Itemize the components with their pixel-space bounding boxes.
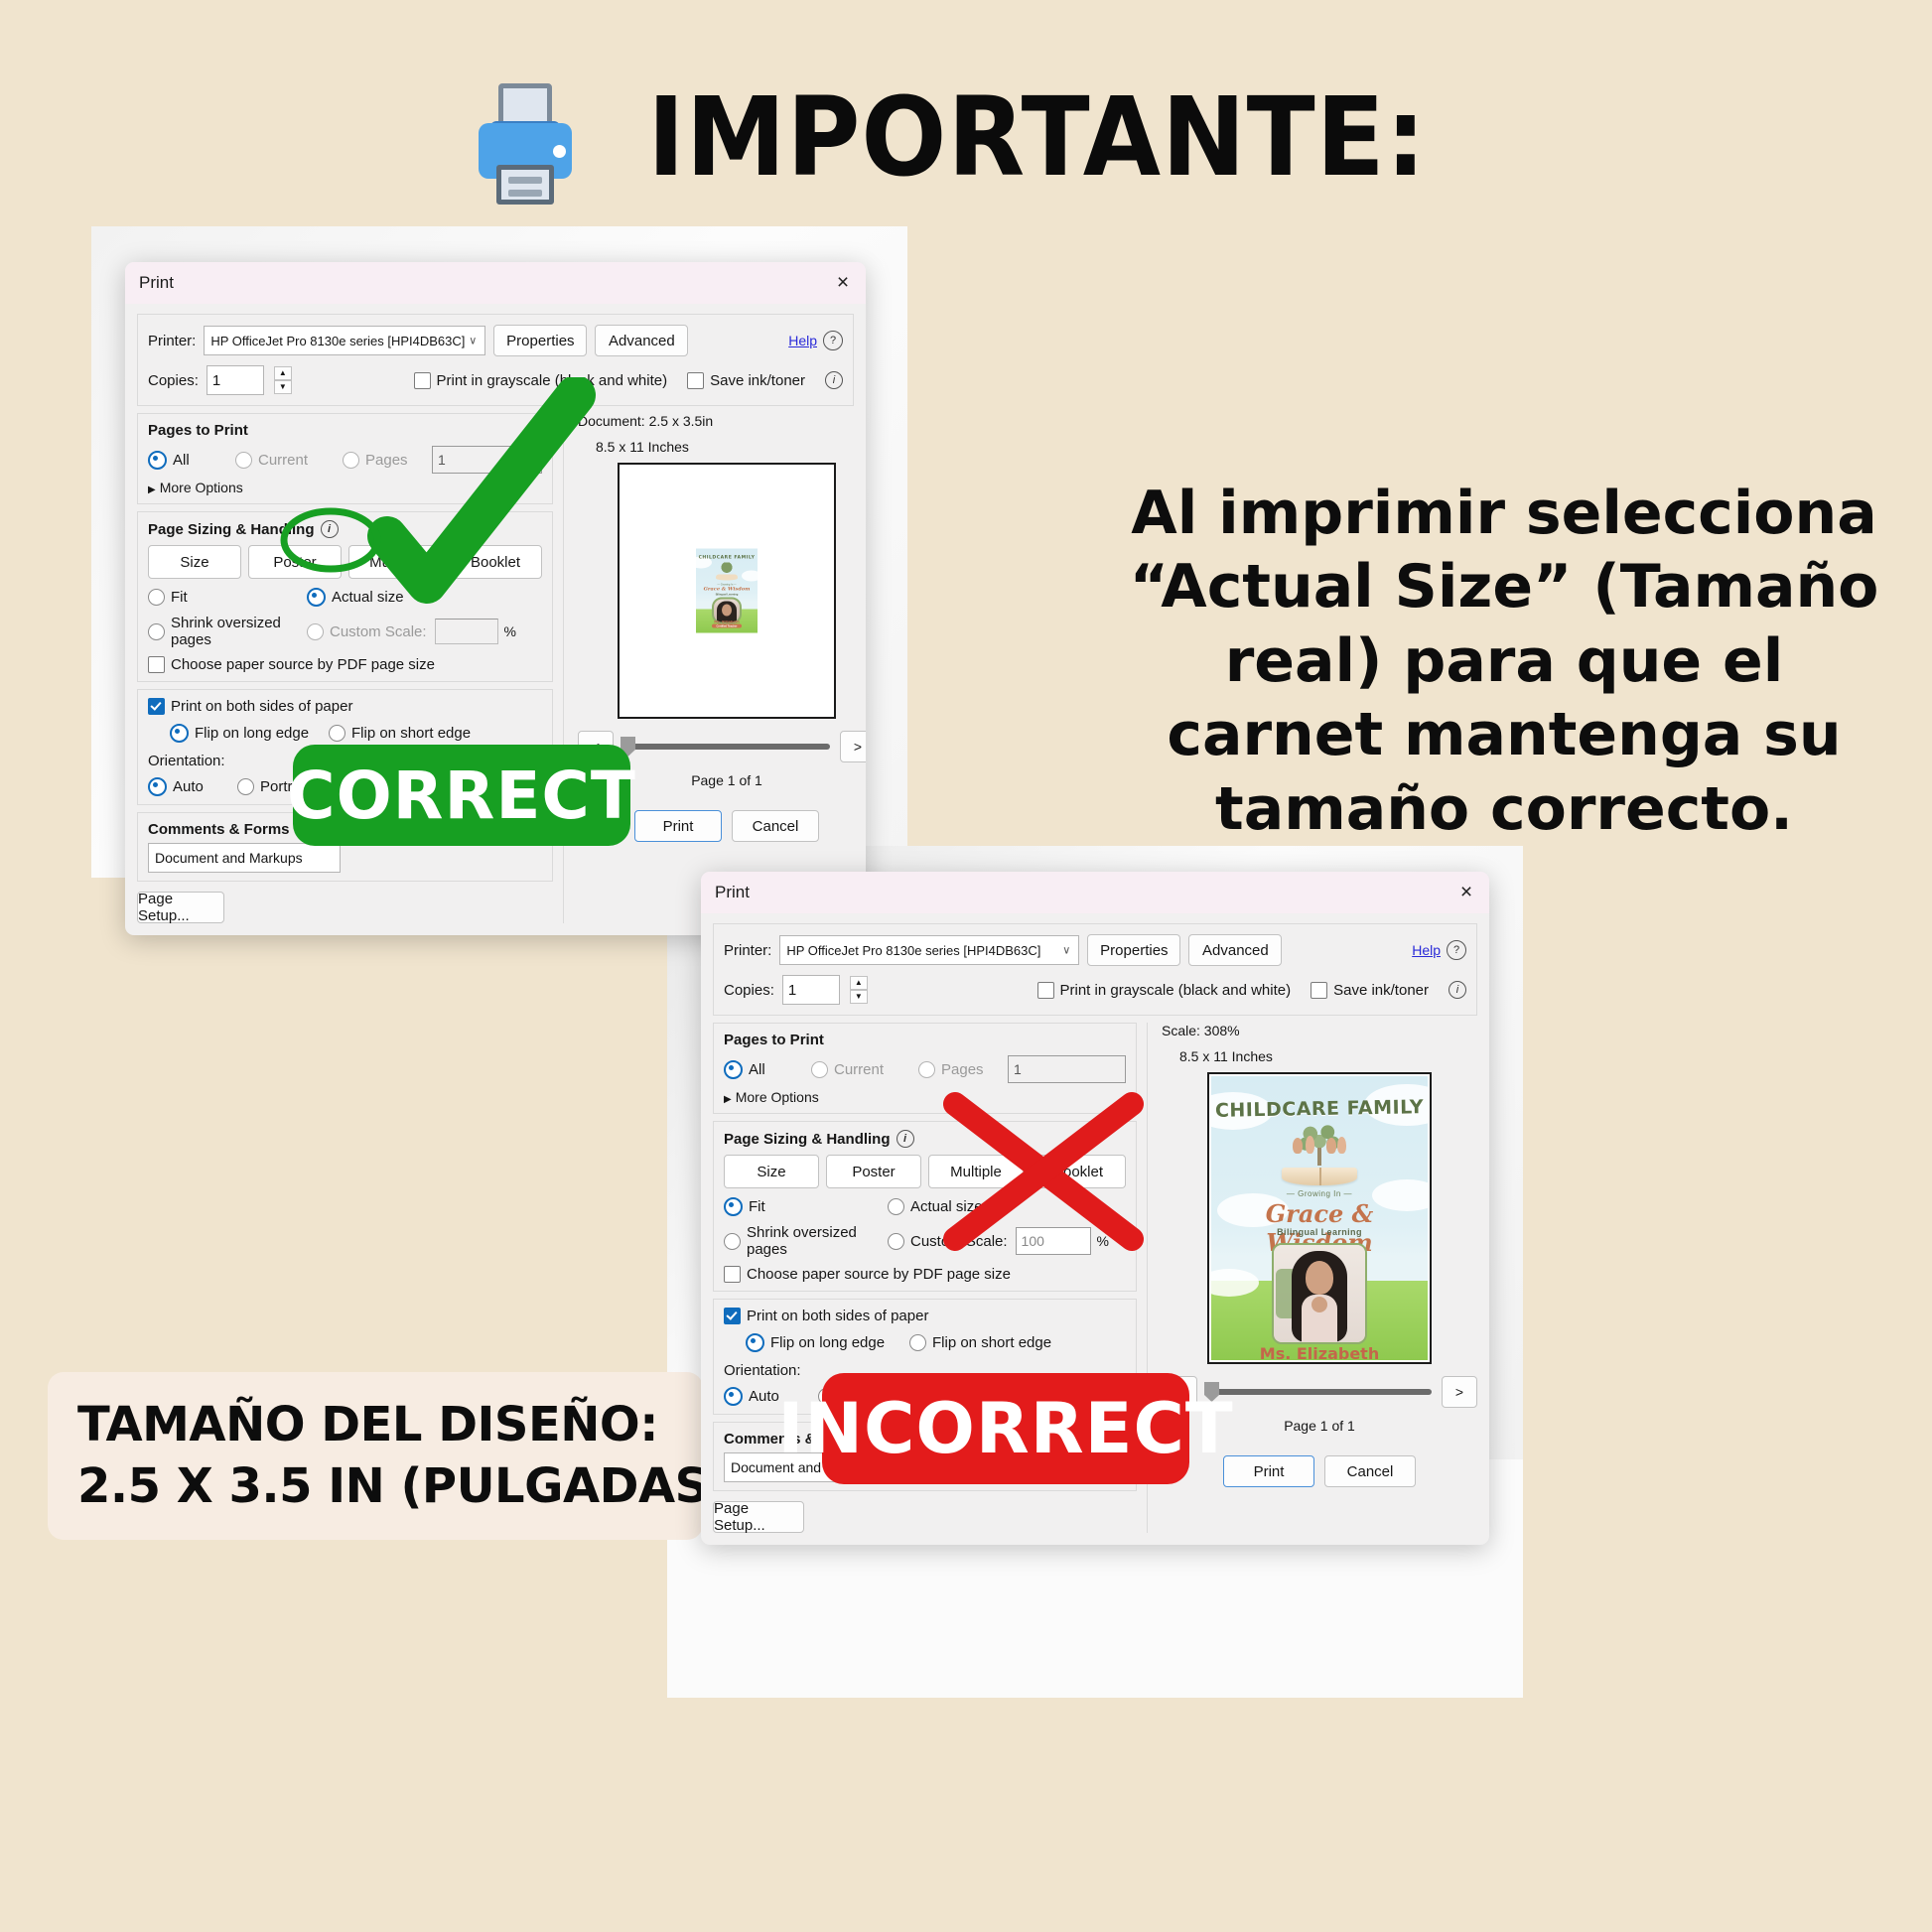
checkbox-icon: [687, 372, 704, 389]
chevron-down-icon: ∨: [469, 335, 477, 347]
comments-select[interactable]: Document and Markups: [148, 843, 341, 873]
paper-source-label: Choose paper source by PDF page size: [747, 1266, 1011, 1283]
poster-button[interactable]: Poster: [248, 545, 342, 579]
checkbox-icon: [724, 1308, 741, 1324]
saveink-label: Save ink/toner: [1333, 982, 1429, 999]
checkbox-icon: [1037, 982, 1054, 999]
advanced-button[interactable]: Advanced: [595, 325, 688, 356]
teacher-photo: [1272, 1243, 1367, 1344]
info-icon[interactable]: i: [1449, 981, 1466, 999]
chevron-right-icon: ▶: [724, 1094, 732, 1105]
more-options-label: More Options: [160, 480, 243, 495]
radio-icon: [724, 1233, 741, 1250]
page-slider[interactable]: [1207, 1389, 1432, 1395]
grayscale-label: Print in grayscale (black and white): [437, 372, 668, 389]
radio-icon: [909, 1334, 926, 1351]
radio-all[interactable]: All: [148, 451, 227, 470]
radio-icon: [746, 1333, 764, 1352]
paper-source-label: Choose paper source by PDF page size: [171, 656, 435, 673]
paper-source-checkbox[interactable]: Choose paper source by PDF page size: [724, 1266, 1126, 1283]
radio-icon: [811, 1061, 828, 1078]
print-button[interactable]: Print: [634, 810, 722, 842]
more-options-toggle[interactable]: ▶More Options: [724, 1089, 1126, 1105]
radio-all[interactable]: All: [724, 1060, 803, 1079]
printer-select[interactable]: HP OfficeJet Pro 8130e series [HPI4DB63C…: [204, 326, 485, 355]
radio-auto-label: Auto: [173, 778, 204, 795]
radio-icon: [329, 725, 345, 742]
more-options-toggle[interactable]: ▶More Options: [148, 480, 542, 495]
radio-current-label: Current: [258, 452, 308, 469]
paper-size-label: 8.5 x 11 Inches: [596, 439, 866, 455]
print-preview-page: CHILDCARE FAMILY — Growing In — Grace & …: [618, 463, 836, 719]
copies-stepper[interactable]: ▲▼: [850, 976, 868, 1004]
design-size-line1: TAMAÑO DEL DISEÑO:: [77, 1394, 673, 1455]
radio-actual-size[interactable]: Actual size: [888, 1197, 983, 1216]
radio-pages[interactable]: Pages: [918, 1061, 1000, 1078]
help-question-icon[interactable]: ?: [823, 331, 843, 350]
radio-shrink-label: Shrink oversized pages: [171, 615, 307, 648]
help-link[interactable]: Help: [788, 333, 817, 348]
page-sizing-label: Page Sizing & Handling: [724, 1131, 891, 1148]
radio-current[interactable]: Current: [811, 1061, 910, 1078]
radio-shrink[interactable]: Shrink oversized pages: [148, 615, 307, 648]
card-title: CHILDCARE FAMILY: [1211, 1096, 1428, 1122]
copies-stepper[interactable]: ▲▼: [274, 366, 292, 394]
radio-fit-label: Fit: [749, 1198, 765, 1215]
chevron-right-icon: ▶: [148, 484, 156, 495]
checkbox-icon: [1311, 982, 1327, 999]
radio-fit[interactable]: Fit: [148, 588, 307, 607]
radio-fit-label: Fit: [171, 589, 188, 606]
custom-scale-input[interactable]: [435, 619, 498, 644]
comments-value: Document and Markups: [155, 850, 303, 866]
radio-icon: [888, 1233, 904, 1250]
card-teacher-name: Ms. Elizabeth: [1211, 1344, 1428, 1360]
printer-icon: [471, 77, 580, 197]
both-sides-label: Print on both sides of paper: [747, 1308, 928, 1324]
page-slider[interactable]: [623, 744, 830, 750]
dialog-title: Print: [139, 273, 174, 293]
radio-flip-long-label: Flip on long edge: [195, 725, 309, 742]
radio-actual-size-label: Actual size: [910, 1198, 983, 1215]
printer-label: Printer:: [724, 942, 771, 959]
correct-stamp: CORRECT: [293, 745, 630, 846]
booklet-button[interactable]: Booklet: [1031, 1155, 1126, 1188]
radio-pages-label: Pages: [941, 1061, 984, 1078]
radio-flip-short-label: Flip on short edge: [932, 1334, 1051, 1351]
radio-icon: [237, 778, 254, 795]
saveink-label: Save ink/toner: [710, 372, 805, 389]
copies-input[interactable]: 1: [782, 975, 840, 1005]
page-sizing-label: Page Sizing & Handling: [148, 521, 315, 538]
printer-value: HP OfficeJet Pro 8130e series [HPI4DB63C…: [210, 334, 465, 348]
properties-button[interactable]: Properties: [1087, 934, 1180, 966]
design-size-box: TAMAÑO DEL DISEÑO: 2.5 X 3.5 IN (PULGADA…: [48, 1372, 703, 1540]
cancel-button[interactable]: Cancel: [732, 810, 819, 842]
dialog-titlebar: Print ×: [125, 262, 866, 304]
radio-icon: [343, 452, 359, 469]
size-button[interactable]: Size: [724, 1155, 819, 1188]
radio-auto[interactable]: Auto: [148, 777, 237, 796]
copies-label: Copies:: [148, 372, 199, 389]
radio-icon: [918, 1061, 935, 1078]
info-icon[interactable]: i: [321, 520, 339, 538]
radio-shrink[interactable]: Shrink oversized pages: [724, 1224, 888, 1258]
radio-custom-scale-label: Custom Scale:: [330, 623, 427, 640]
checkbox-icon: [414, 372, 431, 389]
percent-symbol: %: [504, 623, 516, 639]
radio-auto-label: Auto: [749, 1388, 779, 1405]
both-sides-checkbox[interactable]: Print on both sides of paper: [148, 698, 542, 715]
radio-flip-short-label: Flip on short edge: [351, 725, 471, 742]
multiple-button[interactable]: Multiple: [928, 1155, 1024, 1188]
copies-label: Copies:: [724, 982, 774, 999]
next-page-button[interactable]: >: [1442, 1376, 1477, 1408]
radio-flip-short[interactable]: Flip on short edge: [909, 1333, 1051, 1352]
radio-custom-scale[interactable]: Custom Scale:: [888, 1233, 1008, 1250]
grayscale-checkbox[interactable]: Print in grayscale (black and white): [1037, 982, 1292, 999]
info-icon[interactable]: i: [897, 1130, 914, 1148]
radio-current-label: Current: [834, 1061, 884, 1078]
tree-icon: [1283, 1122, 1356, 1173]
saveink-checkbox[interactable]: Save ink/toner: [1311, 982, 1429, 999]
print-button[interactable]: Print: [1223, 1455, 1314, 1487]
saveink-checkbox[interactable]: Save ink/toner: [687, 372, 805, 389]
copies-input[interactable]: 1: [207, 365, 264, 395]
help-link[interactable]: Help: [1412, 942, 1441, 958]
info-icon[interactable]: i: [825, 371, 843, 389]
radio-all-label: All: [173, 452, 190, 469]
close-icon[interactable]: ×: [830, 270, 856, 296]
paper-size-label: 8.5 x 11 Inches: [1179, 1048, 1477, 1064]
radio-icon: [170, 724, 189, 743]
incorrect-stamp: INCORRECT: [822, 1373, 1189, 1484]
printer-label: Printer:: [148, 333, 196, 349]
size-button[interactable]: Size: [148, 545, 241, 579]
document-size-label: Document: 2.5 x 3.5in: [578, 413, 866, 429]
pages-range-input[interactable]: 1: [432, 446, 542, 474]
design-size-line2: 2.5 X 3.5 IN (PULGADAS): [77, 1455, 673, 1517]
chevron-down-icon: ∨: [1062, 944, 1070, 957]
more-options-label: More Options: [736, 1089, 819, 1105]
instruction-text: Al imprimir selecciona “Actual Size” (Ta…: [1112, 477, 1896, 846]
sizing-button-group: Size Poster Multiple Booklet: [724, 1155, 1126, 1188]
radio-shrink-label: Shrink oversized pages: [747, 1224, 888, 1258]
percent-symbol: %: [1097, 1233, 1109, 1249]
radio-icon: [148, 777, 167, 796]
radio-icon: [307, 623, 324, 640]
radio-icon: [307, 588, 326, 607]
radio-custom-scale[interactable]: Custom Scale:: [307, 623, 427, 640]
card-growing-in: — Growing In —: [1211, 1189, 1428, 1198]
booklet-button[interactable]: Booklet: [449, 545, 542, 579]
sizing-button-group: Size Poster Multiple Booklet: [148, 545, 542, 579]
multiple-button[interactable]: Multiple: [348, 545, 442, 579]
radio-current[interactable]: Current: [235, 452, 335, 469]
radio-pages-label: Pages: [365, 452, 408, 469]
both-sides-label: Print on both sides of paper: [171, 698, 352, 715]
page-setup-button[interactable]: Page Setup...: [137, 892, 224, 923]
properties-button[interactable]: Properties: [493, 325, 587, 356]
radio-icon: [724, 1060, 743, 1079]
radio-flip-long[interactable]: Flip on long edge: [170, 724, 329, 743]
page-header: IMPORTANTE:: [0, 58, 1932, 216]
page-title: IMPORTANTE:: [648, 82, 1428, 192]
radio-icon: [148, 623, 165, 640]
paper-source-checkbox[interactable]: Choose paper source by PDF page size: [148, 656, 542, 673]
cancel-button[interactable]: Cancel: [1324, 1455, 1416, 1487]
radio-icon: [148, 589, 165, 606]
grayscale-checkbox[interactable]: Print in grayscale (black and white): [414, 372, 668, 389]
checkbox-icon: [724, 1266, 741, 1283]
page-setup-button[interactable]: Page Setup...: [713, 1501, 804, 1533]
grayscale-label: Print in grayscale (black and white): [1060, 982, 1292, 999]
radio-flip-long-label: Flip on long edge: [770, 1334, 885, 1351]
advanced-button[interactable]: Advanced: [1188, 934, 1282, 966]
checkbox-icon: [148, 656, 165, 673]
radio-actual-size[interactable]: Actual size: [307, 588, 404, 607]
radio-fit[interactable]: Fit: [724, 1197, 888, 1216]
radio-all-label: All: [749, 1061, 765, 1078]
card-bilingual: Bilingual Learning: [1211, 1227, 1428, 1237]
radio-icon: [148, 451, 167, 470]
pages-to-print-label: Pages to Print: [724, 1032, 1126, 1048]
radio-icon: [724, 1197, 743, 1216]
checkbox-icon: [148, 698, 165, 715]
radio-flip-long[interactable]: Flip on long edge: [746, 1333, 909, 1352]
radio-icon: [724, 1387, 743, 1406]
dialog-titlebar: Print ×: [701, 872, 1489, 913]
radio-icon: [235, 452, 252, 469]
book-icon: [1282, 1168, 1357, 1185]
help-question-icon[interactable]: ?: [1447, 940, 1466, 960]
printer-value: HP OfficeJet Pro 8130e series [HPI4DB63C…: [786, 943, 1040, 958]
print-preview-page: CHILDCARE FAMILY: [1207, 1072, 1432, 1364]
dialog-title: Print: [715, 883, 750, 902]
scale-label: Scale: 308%: [1162, 1023, 1477, 1038]
printer-select[interactable]: HP OfficeJet Pro 8130e series [HPI4DB63C…: [779, 935, 1079, 965]
radio-flip-short[interactable]: Flip on short edge: [329, 724, 471, 743]
poster-button[interactable]: Poster: [826, 1155, 921, 1188]
next-page-button[interactable]: >: [840, 731, 866, 762]
close-icon[interactable]: ×: [1453, 880, 1479, 905]
radio-icon: [888, 1198, 904, 1215]
pages-to-print-label: Pages to Print: [148, 422, 542, 439]
radio-pages[interactable]: Pages: [343, 452, 424, 469]
radio-custom-scale-label: Custom Scale:: [910, 1233, 1008, 1250]
radio-actual-size-label: Actual size: [332, 589, 404, 606]
both-sides-checkbox[interactable]: Print on both sides of paper: [724, 1308, 1126, 1324]
pages-range-input[interactable]: 1: [1008, 1055, 1126, 1083]
custom-scale-input[interactable]: 100: [1016, 1227, 1091, 1255]
